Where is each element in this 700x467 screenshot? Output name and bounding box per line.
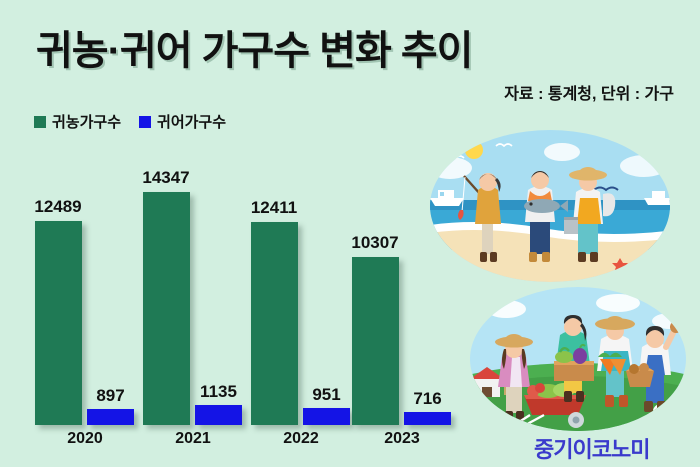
value-label-gwieo-2022: 951	[303, 385, 350, 405]
square-swatch-icon	[34, 116, 46, 128]
value-label-gwinong-2022: 12411	[243, 198, 305, 218]
value-label-gwinong-2023: 10307	[344, 233, 406, 253]
farming-scene-illustration	[458, 285, 698, 440]
chart-legend: 귀농가구수 귀어가구수	[34, 111, 226, 132]
value-label-gwieo-2020: 897	[87, 386, 134, 406]
x-axis-label-2022: 2022	[251, 430, 351, 448]
bar-gwieo-2022	[303, 408, 350, 425]
x-axis-label-2020: 2020	[35, 430, 135, 448]
value-label-gwinong-2020: 12489	[27, 197, 89, 217]
value-label-gwieo-2023: 716	[404, 389, 451, 409]
bar-gwieo-2023	[404, 412, 451, 425]
bar-gwieo-2021	[195, 405, 242, 425]
infographic-page: 귀농·귀어 가구수 변화 추이 자료 : 통계청, 단위 : 가구 귀농가구수 …	[0, 0, 700, 467]
bar-chart: 12489 897 2020 14347 1135 2021 12411 951…	[0, 140, 455, 425]
legend-label-gwinong: 귀농가구수	[52, 111, 121, 132]
bar-gwieo-2020	[87, 409, 134, 425]
bar-gwinong-2022	[251, 222, 298, 425]
x-axis-label-2021: 2021	[143, 430, 243, 448]
bar-group-2020: 12489 897	[35, 147, 135, 425]
bar-group-2021: 14347 1135	[143, 147, 243, 425]
value-label-gwinong-2021: 14347	[135, 168, 197, 188]
page-title: 귀농·귀어 가구수 변화 추이	[36, 18, 472, 76]
publisher-logo: 중기이코노미	[534, 432, 649, 464]
value-label-gwieo-2021: 1135	[195, 382, 242, 402]
source-note: 자료 : 통계청, 단위 : 가구	[504, 80, 674, 104]
fishing-scene-illustration	[412, 128, 689, 288]
legend-label-gwieo: 귀어가구수	[157, 111, 226, 132]
bar-group-2022: 12411 951	[251, 147, 351, 425]
legend-item-gwieo: 귀어가구수	[139, 111, 226, 132]
bar-gwinong-2020	[35, 221, 82, 425]
bar-gwinong-2021	[143, 192, 190, 425]
legend-item-gwinong: 귀농가구수	[34, 111, 121, 132]
square-swatch-icon	[139, 116, 151, 128]
bar-gwinong-2023	[352, 257, 399, 425]
x-axis-label-2023: 2023	[352, 430, 452, 448]
